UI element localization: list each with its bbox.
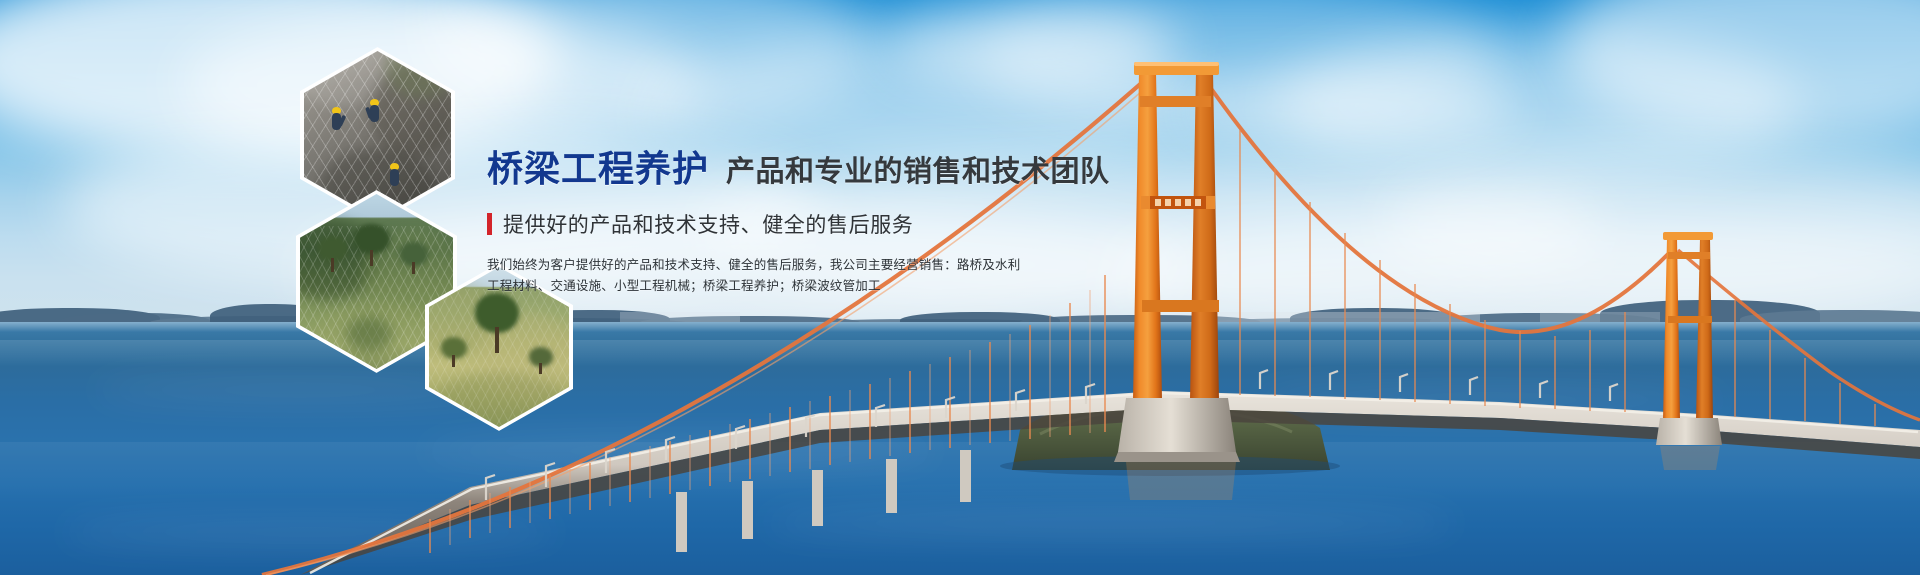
headline: 桥梁工程养护 产品和专业的销售和技术团队 xyxy=(487,146,1127,194)
sea-background xyxy=(0,322,1920,575)
subheadline: 提供好的产品和技术支持、健全的售后服务 xyxy=(487,210,1127,238)
description-paragraph: 我们始终为客户提供好的产品和技术支持、健全的售后服务，我公司主要经营销售：路桥及… xyxy=(487,255,1127,297)
description-line: 工程材料、交通设施、小型工程机械；桥梁工程养护；桥梁波纹管加工 xyxy=(487,276,1127,297)
headline-secondary: 产品和专业的销售和技术团队 xyxy=(726,149,1110,195)
hero-banner: 桥梁工程养护 产品和专业的销售和技术团队 提供好的产品和技术支持、健全的售后服务… xyxy=(0,0,1920,575)
headline-primary: 桥梁工程养护 xyxy=(487,146,709,192)
description-line: 我们始终为客户提供好的产品和技术支持、健全的售后服务，我公司主要经营销售：路桥及… xyxy=(487,255,1127,276)
subheadline-text: 提供好的产品和技术支持、健全的售后服务 xyxy=(503,209,913,239)
red-accent-bar xyxy=(487,213,492,235)
banner-text-block: 桥梁工程养护 产品和专业的销售和技术团队 提供好的产品和技术支持、健全的售后服务… xyxy=(487,146,1127,297)
